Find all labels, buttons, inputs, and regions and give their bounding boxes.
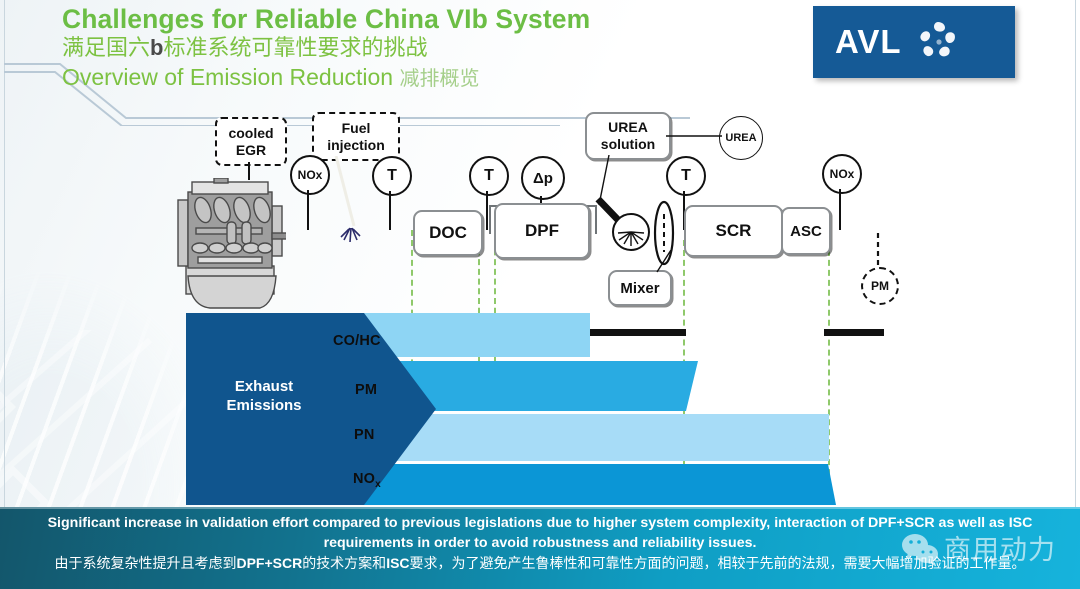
title-cn-pre: 满足国六 [62, 35, 150, 60]
component-doc: DOC [413, 210, 483, 256]
component-dpf: DPF [494, 203, 590, 259]
callout-cooled-egr-line1: cooled [228, 125, 273, 141]
slide: Challenges for Reliable China VIb System… [0, 0, 1080, 589]
avl-logo-text: AVL [835, 23, 902, 61]
banner-cn-part-c: 的技术方案和 [302, 555, 386, 571]
component-dpf-label: DPF [525, 221, 559, 241]
sensor-pm-label: PM [871, 279, 889, 293]
banner-cn-dpf-scr: DPF+SCR [236, 555, 302, 571]
callout-fuel-injection: Fuel injection [312, 112, 400, 161]
stem-nox-2 [839, 189, 841, 230]
funnel-label-pn: PN [354, 427, 375, 443]
banner-cn-part-a: 由于系统复杂性提升且考虑到 [54, 555, 236, 571]
callout-urea-solution: UREA solution [585, 112, 671, 160]
injector-nozzle-icon [334, 216, 366, 248]
sensor-temp-2: T [469, 156, 509, 196]
funnel-label-cohc: CO/HC [333, 333, 381, 349]
sensor-temp-1: T [372, 156, 412, 196]
sensor-pm: PM [861, 267, 899, 305]
callout-urea-line2: solution [601, 136, 655, 152]
title-cn-post: 标准系统可靠性要求的挑战 [163, 35, 427, 60]
banner-cn-part-d: 要求，为了避免产生鲁棒性和可靠性方面的问题，相较于先前的法规，需要大幅增加验证的… [410, 555, 1026, 571]
sensor-temp-3-label: T [681, 167, 691, 185]
banner-text-chinese: 由于系统复杂性提升且考虑到DPF+SCR的技术方案和ISC要求，为了避免产生鲁棒… [0, 553, 1080, 573]
callout-mixer: Mixer [608, 270, 672, 306]
leader-mixer [655, 250, 677, 274]
sensor-nox-2: NOx [822, 154, 862, 194]
avl-logo: AVL [813, 6, 1015, 78]
banner-cn-isc: ISC [386, 555, 409, 571]
funnel-head-line1: Exhaust [235, 378, 293, 395]
title-cn-bold: b [150, 35, 163, 60]
sensor-temp-2-label: T [484, 167, 494, 185]
sensor-nox-1-label: NOx [298, 168, 323, 182]
component-asc-label: ASC [790, 223, 822, 240]
callout-cooled-egr: cooled EGR [215, 117, 287, 166]
page-title: Challenges for Reliable China VIb System [62, 4, 822, 34]
engine-block-icon [174, 178, 286, 313]
sensor-nox-2-label: NOx [830, 167, 855, 181]
component-scr-label: SCR [716, 221, 752, 241]
funnel-label-pm: PM [355, 382, 377, 398]
stem-temp-1 [389, 191, 391, 230]
page-title-chinese: 满足国六b标准系统可靠性要求的挑战 [62, 34, 822, 62]
funnel-head-line2: Emissions [226, 397, 301, 414]
sensor-temp-1-label: T [387, 167, 397, 185]
stem-pm [876, 233, 880, 267]
sensor-nox-1: NOx [290, 155, 330, 195]
callout-mixer-label: Mixer [620, 280, 659, 297]
urea-injector-icon [612, 213, 650, 251]
callout-fuel-injection-line1: Fuel [342, 120, 371, 136]
callout-urea-line1: UREA [608, 119, 648, 135]
component-scr: SCR [684, 205, 783, 257]
sensor-delta-p-label: Δp [533, 170, 553, 187]
funnel-head-label: Exhaust Emissions [204, 377, 324, 415]
component-asc: ASC [781, 207, 831, 255]
page-subtitle: Overview of Emission Reduction 减排概览 [62, 62, 822, 94]
subtitle-cn: 减排概览 [399, 68, 479, 90]
injector-spray-icon [614, 215, 648, 249]
callout-cooled-egr-line2: EGR [236, 142, 266, 158]
sensor-urea: UREA [719, 116, 763, 160]
avl-swirl-icon [915, 18, 963, 66]
title-block: Challenges for Reliable China VIb System… [62, 4, 822, 94]
stem-cooled-egr [248, 162, 250, 180]
exhaust-aftertreatment-diagram: cooled EGR Fuel injection NOx T [0, 100, 1080, 315]
summary-banner: Significant increase in validation effor… [0, 507, 1080, 589]
sensor-temp-3: T [666, 156, 706, 196]
sensor-urea-label: UREA [725, 132, 756, 144]
stem-nox-1 [307, 190, 309, 230]
callout-fuel-injection-line2: injection [327, 137, 385, 153]
subtitle-en: Overview of Emission Reduction [62, 64, 393, 90]
banner-text-english: Significant increase in validation effor… [0, 513, 1080, 553]
connector-urea [666, 134, 722, 138]
component-doc-label: DOC [429, 223, 467, 243]
funnel-label-nox: NOx [353, 471, 381, 490]
banner-top-edge [0, 507, 1080, 509]
